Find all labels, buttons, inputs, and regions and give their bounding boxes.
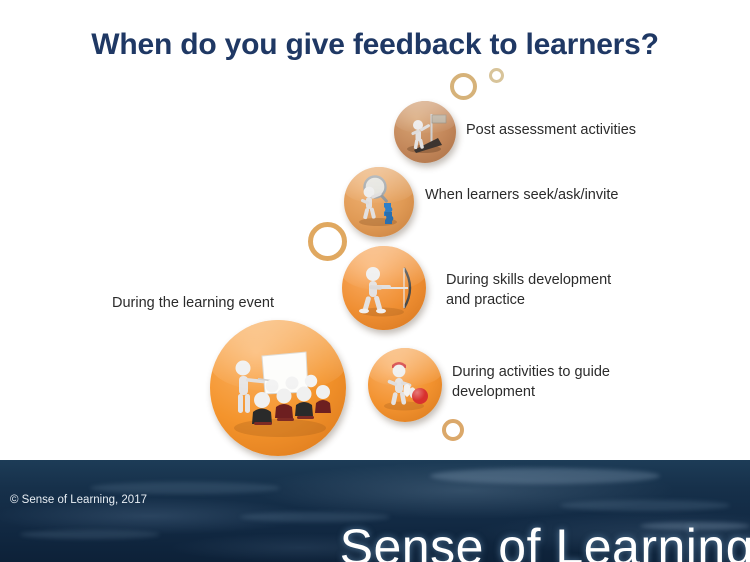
label-learning-event: During the learning event [112,294,322,314]
ring-bottom-small-icon [442,419,464,441]
figure-bowling-icon [368,348,442,422]
bubble-learners-seek[interactable] [344,167,414,237]
water-highlight [20,530,160,539]
footer-band: Sense of Learning © Sense of Learning, 2… [0,460,750,562]
ring-top-medium-icon [450,73,477,100]
label-skills-development: During skills development and practice [446,271,676,310]
figure-with-flag-icon [394,101,456,163]
water-highlight [90,482,280,494]
label-activities-guide: During activities to guide development [452,363,682,402]
label-post-assessment: Post assessment activities [466,121,706,141]
bubble-activities-guide[interactable] [368,348,442,422]
water-highlight [430,468,660,484]
slide-canvas: When do you give feedback to learners? [0,0,750,562]
classroom-training-icon [210,320,346,456]
figure-with-magnifier-puzzle-icon [344,167,414,237]
copyright-text: © Sense of Learning, 2017 [10,494,147,506]
brand-wordmark: Sense of Learning [340,518,750,562]
ring-top-small-icon [489,68,504,83]
label-learners-seek: When learners seek/ask/invite [425,186,675,206]
bubble-skills-development[interactable] [342,246,426,330]
water-highlight [560,500,730,511]
diagram-stage: Post assessment activities When [0,0,750,462]
figure-archer-icon [342,246,426,330]
bubble-post-assessment[interactable] [394,101,456,163]
bubble-learning-event[interactable] [210,320,346,456]
